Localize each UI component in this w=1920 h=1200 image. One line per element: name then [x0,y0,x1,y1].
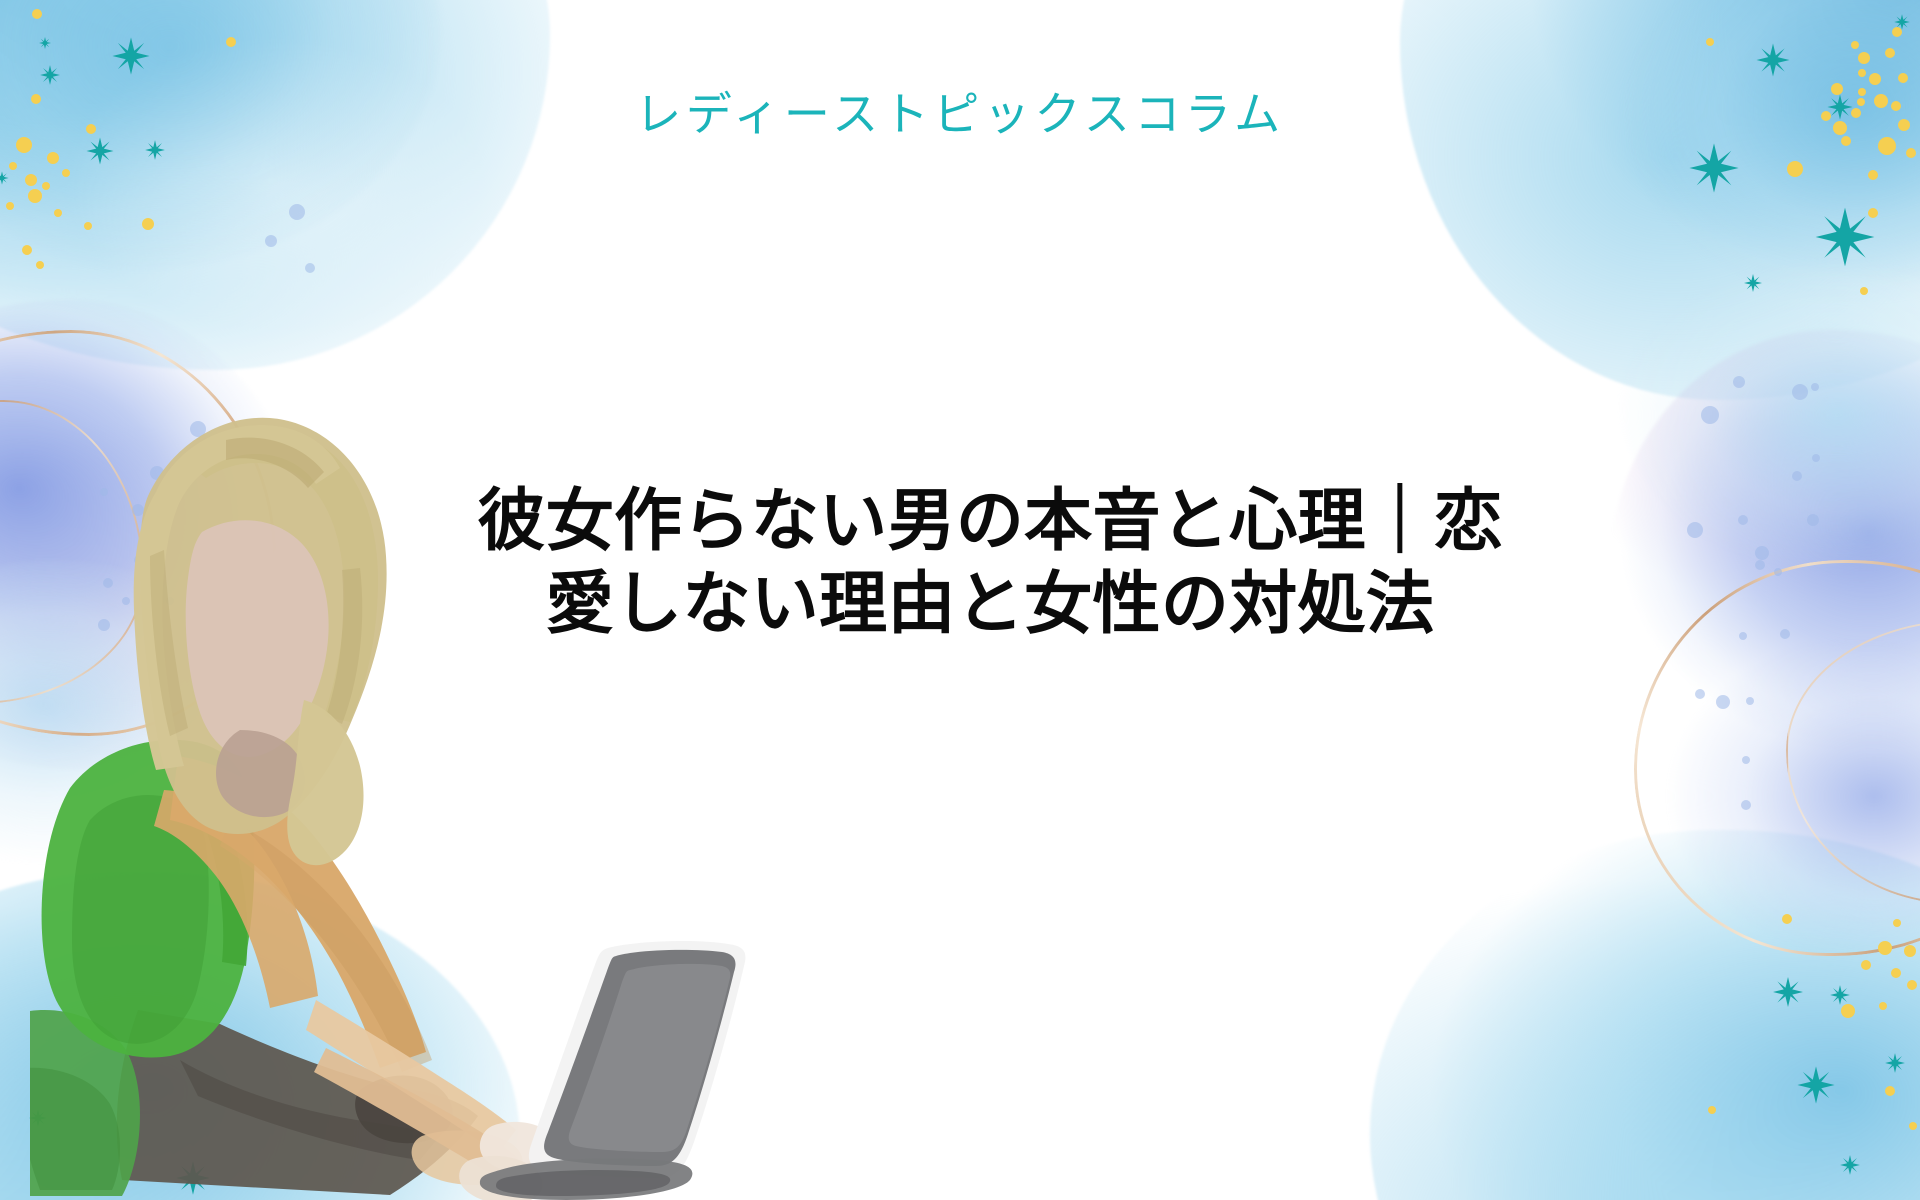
article-title-line-1: 彼女作らない男の本音と心理｜恋 [330,480,1650,563]
category-label: レディーストピックスコラム [0,78,1920,144]
article-title-line-2: 愛しない理由と女性の対処法 [330,563,1650,646]
article-title: 彼女作らない男の本音と心理｜恋 愛しない理由と女性の対処法 [330,480,1650,646]
eyecatch-canvas: レディーストピックスコラム 彼女作らない男の本音と心理｜恋 愛しない理由と女性の… [0,0,1920,1200]
